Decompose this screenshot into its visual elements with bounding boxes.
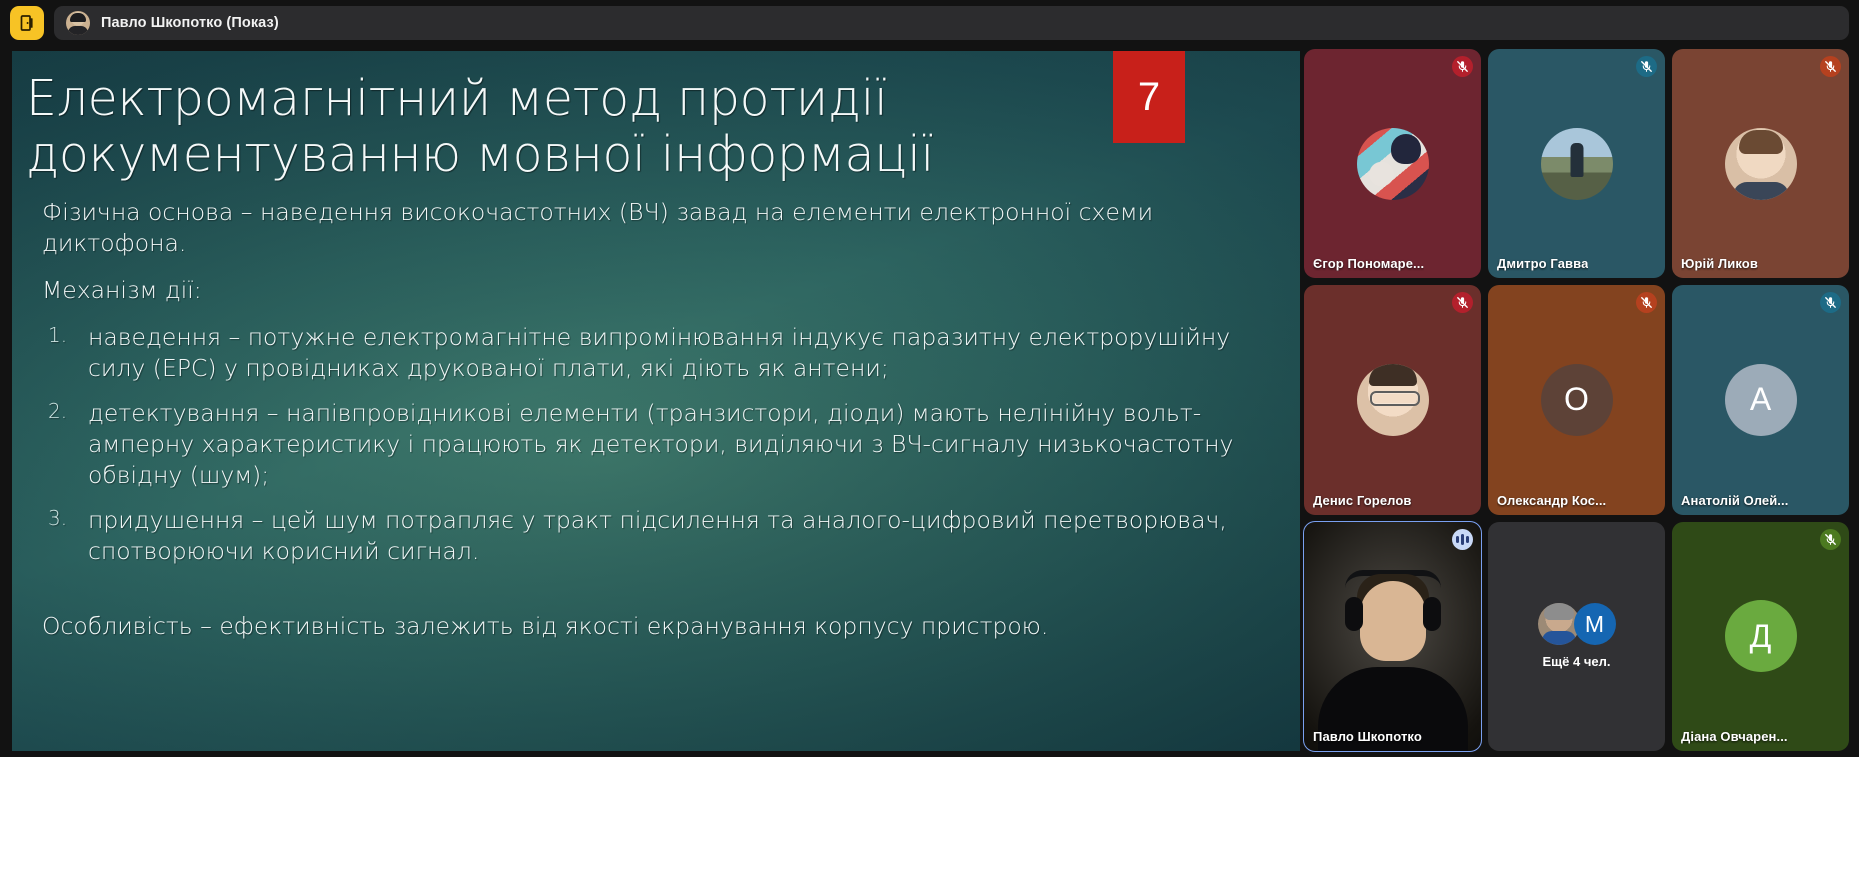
mic-off-icon[interactable] [1452,292,1473,313]
slide-mechanism-label: Механізм дії: [42,275,1274,306]
more-participants-label: Ещё 4 чел. [1543,654,1611,669]
list-item-number: 1. [42,322,70,384]
participant-name: Єгор Пономаре... [1313,256,1424,271]
mic-off-icon[interactable] [1452,56,1473,77]
meeting-screen-share-window: Павло Шкопотко (Показ) 7 Електромагнітни… [0,0,1859,889]
avatar [66,11,90,35]
list-item-number: 2. [42,398,70,491]
participant-tile[interactable]: Дмитро Гавва [1488,49,1665,278]
mic-off-icon[interactable] [1820,292,1841,313]
meeting-content: 7 Електромагнітний метод протидії докуме… [0,45,1859,757]
avatar [1357,364,1429,436]
participant-name: Денис Горелов [1313,493,1412,508]
shared-screen-area[interactable]: 7 Електромагнітний метод протидії докуме… [0,45,1300,757]
slide-body: Фізична основа – наведення високочастотн… [12,183,1300,642]
door-exit-icon [18,14,36,32]
list-item: 2. детектування – напівпровідникові елем… [42,398,1274,491]
list-item-text: придушення – цей шум потрапляє у тракт п… [88,505,1274,567]
participant-tile[interactable]: Д Діана Овчарен... [1672,522,1849,751]
mic-off-icon[interactable] [1636,56,1657,77]
share-title: Павло Шкопотко (Показ) [101,15,279,31]
more-participants-tile[interactable]: М Ещё 4 чел. [1488,522,1665,751]
participant-tile[interactable]: Павло Шкопотко [1304,522,1481,751]
webcam-video [1304,522,1481,751]
participant-name: Олександр Кос... [1497,493,1606,508]
avatar: О [1541,364,1613,436]
avatar [1541,128,1613,200]
participant-name: Дмитро Гавва [1497,256,1588,271]
participant-name: Анатолій Олей... [1681,493,1788,508]
participant-name: Павло Шкопотко [1313,729,1422,744]
mic-off-icon[interactable] [1636,292,1657,313]
mic-off-icon[interactable] [1820,529,1841,550]
slide-title: Електромагнітний метод протидії документ… [12,51,1300,183]
avatar: М [1574,603,1616,645]
slide-intro-paragraph: Фізична основа – наведення високочастотн… [42,197,1274,259]
avatar [1725,128,1797,200]
slide-numbered-list: 1. наведення – потужне електромагнітне в… [42,322,1274,567]
top-bar: Павло Шкопотко (Показ) [0,0,1859,45]
slide-footer-note: Особливість – ефективність залежить від … [42,611,1274,642]
avatar [1357,128,1429,200]
participant-tile[interactable]: А Анатолій Олей... [1672,285,1849,514]
participant-name: Діана Овчарен... [1681,729,1788,744]
slide-number-badge: 7 [1113,51,1185,143]
participant-tile[interactable]: Юрій Ликов [1672,49,1849,278]
screen-share-indicator[interactable]: Павло Шкопотко (Показ) [54,6,1849,40]
participants-grid: Єгор Пономаре... Дмитро Гавва Юрій Ликов… [1300,45,1859,757]
list-item-text: наведення – потужне електромагнітне випр… [88,322,1274,384]
speaking-indicator-icon [1452,529,1473,550]
more-avatars-group: М [1538,603,1616,645]
presentation-slide: 7 Електромагнітний метод протидії докуме… [12,51,1300,751]
leave-meeting-button[interactable] [10,6,44,40]
participant-tile[interactable]: Денис Горелов [1304,285,1481,514]
list-item: 1. наведення – потужне електромагнітне в… [42,322,1274,384]
participant-tile[interactable]: О Олександр Кос... [1488,285,1665,514]
list-item-text: детектування – напівпровідникові елемент… [88,398,1274,491]
participant-name: Юрій Ликов [1681,256,1758,271]
list-item-number: 3. [42,505,70,567]
mic-off-icon[interactable] [1820,56,1841,77]
participant-tile[interactable]: Єгор Пономаре... [1304,49,1481,278]
avatar: Д [1725,600,1797,672]
list-item: 3. придушення – цей шум потрапляє у трак… [42,505,1274,567]
app-window: Павло Шкопотко (Показ) 7 Електромагнітни… [0,0,1859,757]
avatar: А [1725,364,1797,436]
